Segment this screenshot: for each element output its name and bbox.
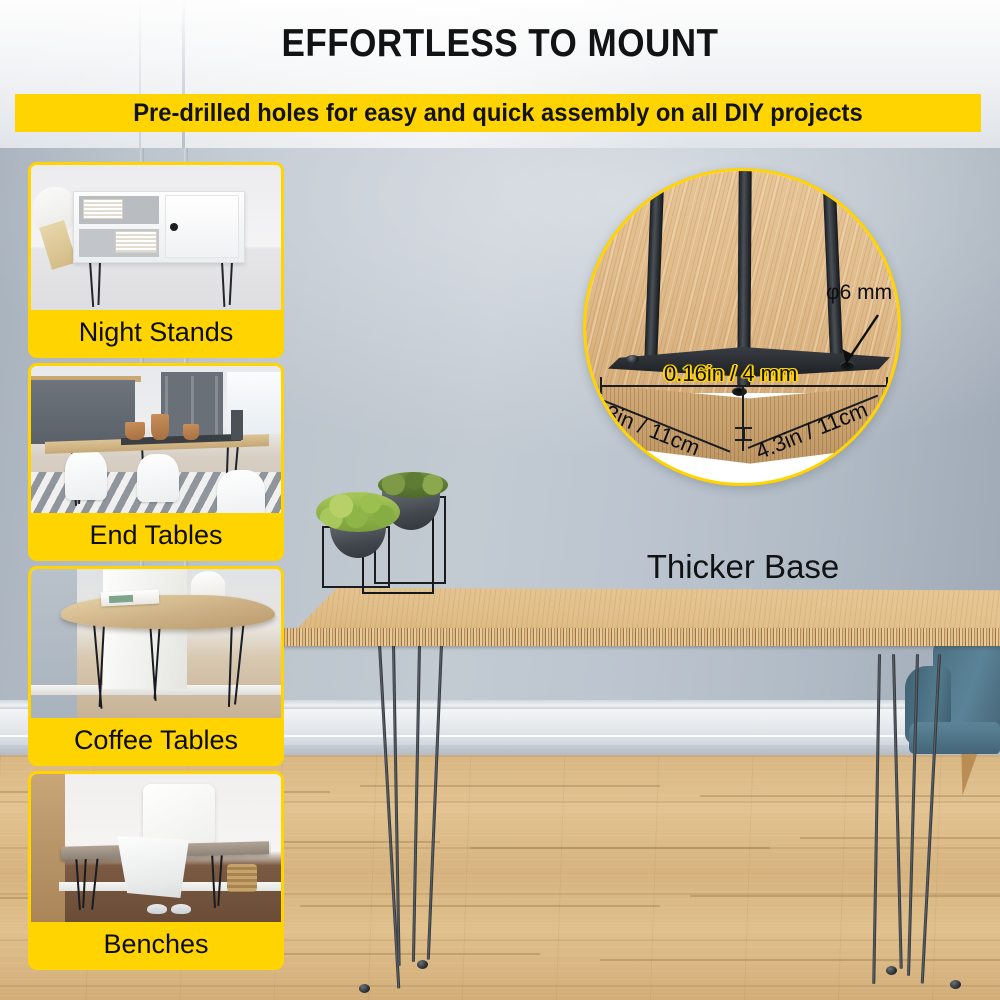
hole-diameter-label: φ6 mm [826, 281, 892, 305]
curtain [103, 569, 187, 689]
product-infographic: EFFORTLESS TO MOUNT Pre-drilled holes fo… [0, 0, 1000, 1000]
book-stack [115, 231, 157, 253]
callout-caption: Thicker Base [583, 548, 903, 586]
dimension-tick [600, 377, 602, 394]
book-stack [83, 199, 123, 219]
card-label: Night Stands [31, 310, 281, 355]
vase [231, 410, 243, 440]
page-title: EFFORTLESS TO MOUNT [50, 22, 950, 66]
wood-plank-prop [39, 220, 77, 270]
bench-photo [31, 774, 281, 922]
table-leg-rod [921, 654, 941, 984]
hairpin-leg-table [278, 588, 1000, 950]
table-leg-foot [886, 966, 897, 975]
thickness-marker-cap [735, 427, 752, 429]
dining-chair [217, 470, 265, 513]
table-leg-rod [907, 654, 919, 976]
cup [151, 414, 169, 440]
table-leg-rod [872, 654, 881, 984]
thickness-marker [742, 429, 745, 439]
thickness-marker-cap [735, 439, 752, 441]
side-floor [31, 774, 65, 922]
thumb-hairpin-leg [221, 261, 225, 307]
table-leg-foot [417, 960, 428, 969]
slipper [147, 904, 167, 914]
card-label: End Tables [31, 513, 281, 558]
plate-thickness-label: 0.16in / 4 mm [664, 361, 797, 387]
pre-drilled-hole [732, 387, 747, 396]
table-leg-foot [359, 984, 370, 993]
slipper [171, 904, 191, 914]
use-case-label: Night Stands [79, 317, 234, 348]
hole-leader-arrow-icon [816, 311, 886, 373]
dining-chair [137, 454, 179, 502]
cup [183, 424, 199, 440]
dining-table-photo [31, 366, 281, 513]
dimension-tick [886, 377, 888, 394]
knit-throw [117, 836, 189, 898]
thumb-hairpin-leg [89, 261, 94, 307]
planter-group [312, 462, 492, 594]
dimension-corner-tick [742, 385, 744, 451]
sideboard [31, 380, 135, 444]
live-edge-slab-top [61, 595, 275, 629]
tabletop-surface [294, 588, 1000, 632]
table-leg-rod [892, 654, 903, 969]
moss-ball-plant [316, 492, 400, 532]
use-case-card-benches[interactable]: Benches [28, 771, 284, 970]
thumb-hairpin-leg [229, 261, 233, 305]
table-leg-foot [950, 980, 961, 989]
thumb-hairpin-leg [82, 854, 87, 908]
screw-head [626, 355, 639, 363]
use-case-card-end-tables[interactable]: End Tables [28, 363, 284, 561]
succulent-plant [378, 472, 448, 498]
dining-chair [65, 450, 107, 500]
thumb-hairpin-leg [97, 261, 101, 305]
door-knob [170, 223, 178, 231]
bowl [125, 422, 145, 440]
side-wall [31, 569, 77, 718]
thumb-hairpin-leg [211, 852, 216, 908]
use-case-label: Coffee Tables [74, 725, 238, 756]
thicker-base-detail-callout: φ6 mm 0.16in / 4 mm 4.3in / 11cm 4.3in /… [583, 168, 901, 486]
table-leg-rod [412, 644, 421, 962]
card-label: Coffee Tables [31, 718, 281, 763]
thumb-hairpin-leg [217, 852, 223, 906]
use-case-card-coffee-tables[interactable]: Coffee Tables [28, 566, 284, 766]
subtitle-banner: Pre-drilled holes for easy and quick ass… [15, 94, 981, 132]
woven-basket [227, 864, 257, 892]
tabletop-edge-band [278, 628, 1000, 646]
nightstand-photo [31, 165, 281, 310]
subtitle-text: Pre-drilled holes for easy and quick ass… [133, 99, 862, 128]
table-leg-rod [427, 644, 443, 960]
use-case-card-night-stands[interactable]: Night Stands [28, 162, 284, 358]
throw-pillow [143, 784, 215, 846]
card-label: Benches [31, 922, 281, 967]
use-case-label: Benches [103, 929, 208, 960]
use-case-label: End Tables [89, 520, 222, 551]
live-edge-table-photo [31, 569, 281, 718]
